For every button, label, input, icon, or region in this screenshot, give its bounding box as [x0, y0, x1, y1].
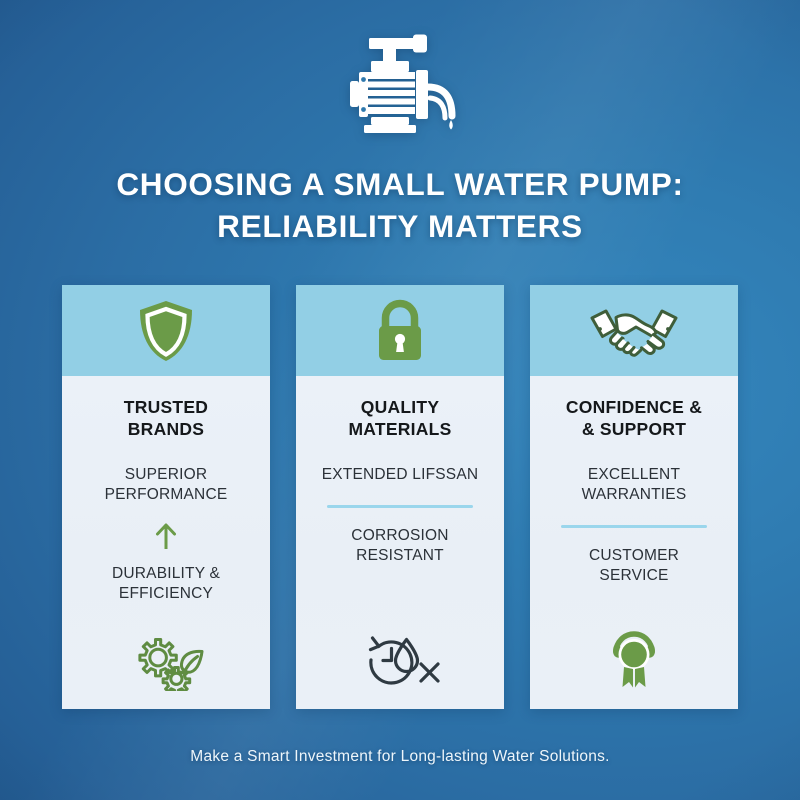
page-title: CHOOSING A SMALL WATER PUMP: RELIABILITY…	[60, 164, 740, 248]
card-title-1-line-1: TRUSTED	[124, 396, 208, 418]
card-sub2-2-line-1: CORROSION	[351, 526, 448, 546]
gears-leaf-icon	[127, 631, 205, 691]
card-sub-3-line-1: EXCELLENT	[582, 465, 687, 485]
card-title-3-line-1: CONFIDENCE &	[566, 396, 702, 418]
card-subtitle-2: EXTENDED LIFSSAN	[322, 465, 479, 485]
footer-tagline: Make a Smart Investment for Long-lasting…	[50, 748, 750, 766]
card-separator-3	[561, 525, 707, 528]
card-sub-2-line-1: EXTENDED LIFSSAN	[322, 465, 479, 485]
card-separator-2	[327, 505, 473, 508]
infographic-page: CHOOSING A SMALL WATER PUMP: RELIABILITY…	[0, 0, 800, 800]
card-header-band-1	[62, 285, 270, 376]
feature-card-trusted-brands[interactable]: TRUSTED BRANDS SUPERIOR PERFORMANCE DURA…	[62, 285, 270, 709]
card-body-2: QUALITY MATERIALS EXTENDED LIFSSAN CORRO…	[296, 376, 504, 709]
card-header-band-3	[530, 285, 738, 376]
card-body-1: TRUSTED BRANDS SUPERIOR PERFORMANCE DURA…	[62, 376, 270, 709]
water-drop-clock-no-icon	[359, 629, 441, 691]
card-footer-icon-wrap-2	[308, 629, 492, 709]
card-sub2-3-line-2: SERVICE	[589, 566, 679, 586]
header-icon-container	[0, 28, 800, 134]
feature-card-confidence-support[interactable]: CONFIDENCE & & SUPPORT EXCELLENT WARRANT…	[530, 285, 738, 709]
card-footer-icon-wrap-1	[74, 631, 258, 709]
title-line-2: RELIABILITY MATTERS	[60, 206, 740, 248]
card-subtitle-1: SUPERIOR PERFORMANCE	[105, 465, 228, 505]
card-sub-3-line-2: WARRANTIES	[582, 485, 687, 505]
card-footer-icon-wrap-3	[542, 627, 726, 709]
handshake-icon	[586, 301, 682, 361]
card-subtitle2-1: DURABILITY & EFFICIENCY	[112, 564, 220, 604]
arrow-up-icon	[153, 521, 179, 551]
shield-icon	[135, 298, 197, 364]
card-separator-1	[153, 521, 179, 551]
card-subtitle2-2: CORROSION RESISTANT	[351, 526, 448, 566]
card-title-3: CONFIDENCE & & SUPPORT	[566, 396, 702, 441]
card-sub2-1-line-1: DURABILITY &	[112, 564, 220, 584]
card-sub2-2-line-2: RESISTANT	[351, 546, 448, 566]
card-header-band-2	[296, 285, 504, 376]
card-body-3: CONFIDENCE & & SUPPORT EXCELLENT WARRANT…	[530, 376, 738, 709]
card-title-1-line-2: BRANDS	[124, 418, 208, 440]
award-ribbon-icon	[602, 627, 666, 691]
card-subtitle2-3: CUSTOMER SERVICE	[589, 546, 679, 586]
card-sub2-3-line-1: CUSTOMER	[589, 546, 679, 566]
feature-card-quality-materials[interactable]: QUALITY MATERIALS EXTENDED LIFSSAN CORRO…	[296, 285, 504, 709]
card-title-3-line-2: & SUPPORT	[566, 418, 702, 440]
title-line-1: CHOOSING A SMALL WATER PUMP:	[60, 164, 740, 206]
card-title-1: TRUSTED BRANDS	[124, 396, 208, 441]
card-title-2-line-1: QUALITY	[348, 396, 451, 418]
card-subtitle-3: EXCELLENT WARRANTIES	[582, 465, 687, 505]
water-pump-icon	[338, 28, 462, 134]
card-sub-1-line-1: SUPERIOR	[105, 465, 228, 485]
card-sub2-1-line-2: EFFICIENCY	[112, 584, 220, 604]
card-sub-1-line-2: PERFORMANCE	[105, 485, 228, 505]
padlock-icon	[371, 298, 429, 364]
feature-cards-row: TRUSTED BRANDS SUPERIOR PERFORMANCE DURA…	[62, 285, 738, 709]
card-title-2-line-2: MATERIALS	[348, 418, 451, 440]
card-title-2: QUALITY MATERIALS	[348, 396, 451, 441]
